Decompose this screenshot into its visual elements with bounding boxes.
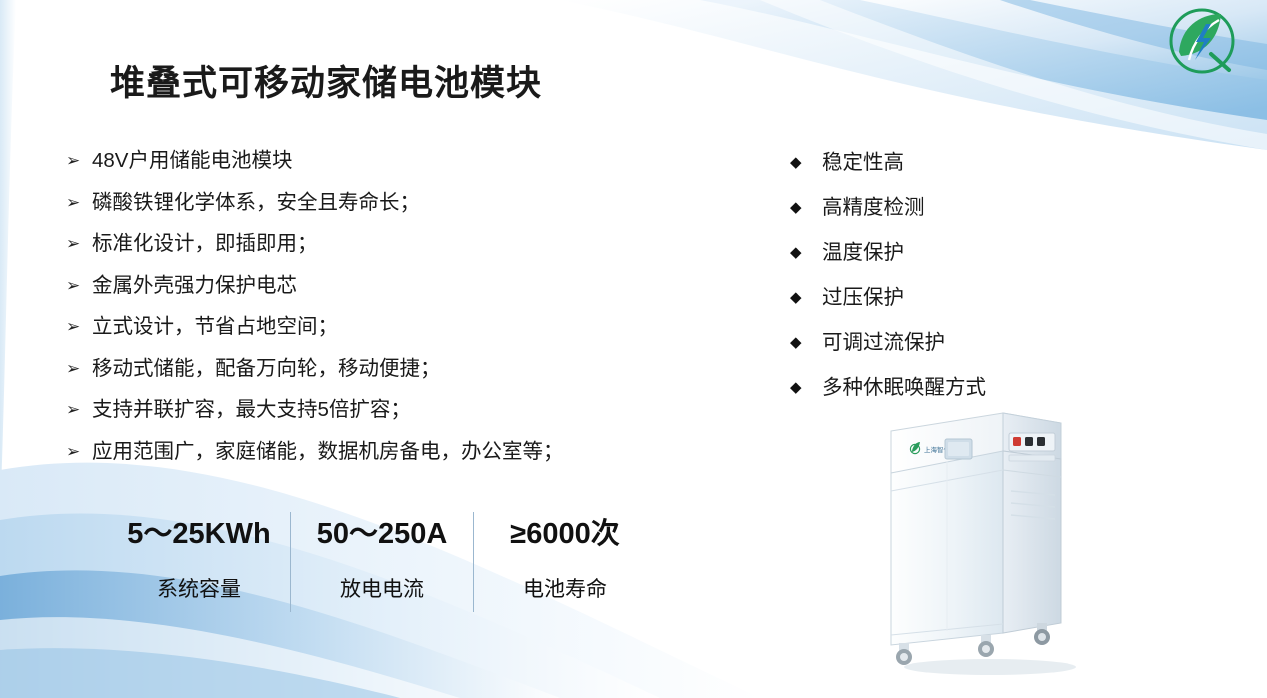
list-item-label: 金属外壳强力保护电芯 <box>92 273 297 299</box>
diamond-bullet-icon: ◆ <box>790 240 822 266</box>
feature-list-right: ◆ 稳定性高 ◆ 高精度检测 ◆ 温度保护 ◆ 过压保护 ◆ 可调过流保护 ◆ … <box>790 150 1090 420</box>
list-item-label: 移动式储能，配备万向轮，移动便捷； <box>92 356 441 382</box>
product-image-battery-module: 上海智信 <box>885 395 1095 680</box>
spec-value: ≥6000次 <box>474 512 656 556</box>
list-item: ◆ 温度保护 <box>790 240 1090 266</box>
list-item: ◆ 可调过流保护 <box>790 330 1090 356</box>
list-item-label: 温度保护 <box>822 240 904 266</box>
spec-capacity: 5～25KWh 系统容量 <box>108 512 290 612</box>
arrow-bullet-icon: ➢ <box>66 148 92 174</box>
list-item: ◆ 稳定性高 <box>790 150 1090 176</box>
spec-cycle-life: ≥6000次 电池寿命 <box>473 512 656 612</box>
list-item: ◆ 过压保护 <box>790 285 1090 311</box>
list-item-label: 支持并联扩容，最大支持5倍扩容； <box>92 397 411 423</box>
spec-label: 电池寿命 <box>474 568 656 612</box>
company-logo-icon <box>1159 8 1245 78</box>
diamond-bullet-icon: ◆ <box>790 285 822 311</box>
list-item-label: 磷酸铁锂化学体系，安全且寿命长； <box>92 190 420 216</box>
arrow-bullet-icon: ➢ <box>66 439 92 465</box>
page-title: 堆叠式可移动家储电池模块 <box>110 55 542 106</box>
list-item-label: 可调过流保护 <box>822 330 945 356</box>
feature-list-left: ➢ 48V户用储能电池模块 ➢ 磷酸铁锂化学体系，安全且寿命长； ➢ 标准化设计… <box>66 148 706 480</box>
list-item-label: 标准化设计，即插即用； <box>92 231 318 257</box>
spec-value: 5～25KWh <box>108 512 290 556</box>
list-item-label: 高精度检测 <box>822 195 925 221</box>
arrow-bullet-icon: ➢ <box>66 273 92 299</box>
list-item: ➢ 移动式储能，配备万向轮，移动便捷； <box>66 356 706 382</box>
arrow-bullet-icon: ➢ <box>66 314 92 340</box>
arrow-bullet-icon: ➢ <box>66 356 92 382</box>
spec-value: 50～250A <box>291 512 473 556</box>
list-item: ➢ 应用范围广，家庭储能，数据机房备电，办公室等； <box>66 439 706 465</box>
list-item-label: 48V户用储能电池模块 <box>92 148 292 174</box>
diamond-bullet-icon: ◆ <box>790 195 822 221</box>
list-item: ➢ 48V户用储能电池模块 <box>66 148 706 174</box>
list-item-label: 立式设计，节省占地空间； <box>92 314 338 340</box>
list-item-label: 稳定性高 <box>822 150 904 176</box>
list-item-label: 过压保护 <box>822 285 904 311</box>
list-item: ➢ 磷酸铁锂化学体系，安全且寿命长； <box>66 190 706 216</box>
list-item: ➢ 立式设计，节省占地空间； <box>66 314 706 340</box>
arrow-bullet-icon: ➢ <box>66 190 92 216</box>
arrow-bullet-icon: ➢ <box>66 231 92 257</box>
slide-canvas: 堆叠式可移动家储电池模块 ➢ 48V户用储能电池模块 ➢ 磷酸铁锂化学体系，安全… <box>0 0 1267 698</box>
spec-summary: 5～25KWh 系统容量 50～250A 放电电流 ≥6000次 电池寿命 <box>108 512 656 612</box>
diamond-bullet-icon: ◆ <box>790 330 822 356</box>
list-item: ➢ 标准化设计，即插即用； <box>66 231 706 257</box>
list-item: ➢ 金属外壳强力保护电芯 <box>66 273 706 299</box>
list-item: ◆ 高精度检测 <box>790 195 1090 221</box>
spec-discharge-current: 50～250A 放电电流 <box>290 512 473 612</box>
list-item-label: 应用范围广，家庭储能，数据机房备电，办公室等； <box>92 439 564 465</box>
arrow-bullet-icon: ➢ <box>66 397 92 423</box>
spec-label: 放电电流 <box>291 568 473 612</box>
diamond-bullet-icon: ◆ <box>790 150 822 176</box>
diamond-bullet-icon: ◆ <box>790 375 822 401</box>
spec-label: 系统容量 <box>108 568 290 612</box>
list-item: ➢ 支持并联扩容，最大支持5倍扩容； <box>66 397 706 423</box>
